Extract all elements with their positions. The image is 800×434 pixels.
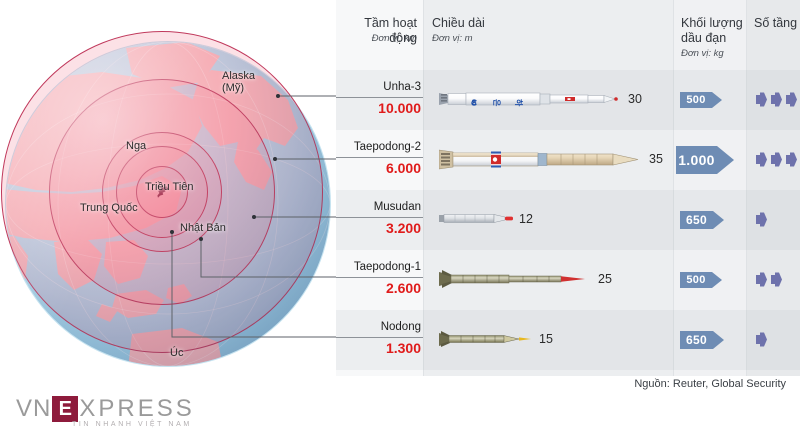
stage-icon [755,152,768,167]
missile-name: Taepodong-2 [354,141,421,153]
warhead-badge: 1.000 [676,146,734,174]
table-row[interactable]: Unha-3 10.000 [336,70,800,130]
missile-length: 12 [519,212,533,226]
warhead-badge: 500 [680,272,722,288]
warhead-nose [713,211,724,229]
missile-name: Nodong [381,321,421,333]
table-row[interactable]: Nodong 1.300 [336,310,800,370]
missile-name: Unha-3 [383,81,421,93]
warhead-value: 650 [680,211,713,229]
header-mass-line2: dầu đạn [681,31,726,46]
map-label-alaska-name: Alaska [222,70,255,82]
stage-icon [785,92,798,107]
stage-icon [755,332,768,347]
missile-icon-taepodong2 [439,147,645,172]
vnexpress-logo[interactable]: VN E XPRESS TIN NHANH VIỆT NAM [16,396,195,428]
stage-icon [770,92,783,107]
table-row[interactable]: Taepodong-2 6.000 [336,130,800,190]
warhead-value: 500 [680,92,712,108]
logo-xpress-text: XPRESS [79,396,194,422]
warhead-value: 1.000 [676,146,717,174]
header-range-unit: Đơn vị: km [336,33,417,45]
map-label-russia: Nga [126,140,146,152]
stage-icons [755,272,783,287]
warhead-nose [712,92,722,108]
warhead-value: 500 [680,272,712,288]
source-credit: Nguồn: Reuter, Global Security [634,378,786,390]
missile-length: 15 [539,332,553,346]
stage-icon [785,152,798,167]
missile-range: 10.000 [378,100,421,116]
svg-text:하: 하 [514,99,524,107]
map-label-north-korea: Triều Tiên [145,181,194,193]
missile-range: 1.300 [386,340,421,356]
stage-icon [770,152,783,167]
row-rule [336,217,423,218]
map-label-japan: Nhật Bản [180,222,226,234]
missile-table: Tầm hoạt động Đơn vị: km Chiều dài Đơn v… [336,0,800,376]
missile-length: 30 [628,92,642,106]
logo-tagline: TIN NHANH VIỆT NAM [72,421,192,428]
map-label-alaska-sub: (Mỹ) [222,82,255,94]
stage-icons [755,212,768,227]
header-length-unit: Đơn vị: m [432,33,473,45]
header-mass-line1: Khối lượng [681,16,743,31]
stage-icon [755,92,768,107]
stage-icons [755,92,798,107]
header-stages: Số tầng [754,16,797,31]
missile-range: 2.600 [386,280,421,296]
row-rule [336,97,423,98]
table-row[interactable]: Musudan 3.200 [336,190,800,250]
warhead-nose [712,272,722,288]
missile-name: Taepodong-1 [354,261,421,273]
missile-icon-unha3: ㅇ ω 은 하 [439,90,621,108]
logo-vn-text: VN [16,396,51,422]
stage-icons [755,152,798,167]
stage-icon [755,272,768,287]
missile-length: 25 [598,272,612,286]
infographic-root: Alaska (Mỹ) Nga Trung Quốc Triều Tiên Nh… [0,0,800,434]
svg-text:은: 은 [492,99,501,107]
warhead-nose [713,331,724,349]
missile-range: 3.200 [386,220,421,236]
missile-icon-musudan [439,213,515,224]
missile-range: 6.000 [386,160,421,176]
map-label-alaska: Alaska (Mỹ) [222,70,255,94]
table-row[interactable]: Taepodong-1 2.600 [336,250,800,310]
row-rule [336,337,423,338]
missile-icon-taepodong1 [439,270,595,288]
row-rule [336,277,423,278]
header-length: Chiều dài [432,16,485,31]
warhead-value: 650 [680,331,713,349]
globe [6,42,330,366]
stage-icon [755,212,768,227]
warhead-badge: 650 [680,211,724,229]
svg-text:ω: ω [470,99,479,106]
map-label-australia: Úc [170,347,183,359]
warhead-badge: 500 [680,92,722,108]
warhead-nose [717,146,734,174]
map-label-china: Trung Quốc [80,202,138,214]
stage-icon [770,272,783,287]
missile-name: Musudan [374,201,421,213]
missile-length: 35 [649,152,663,166]
globe-panel: Alaska (Mỹ) Nga Trung Quốc Triều Tiên Nh… [0,36,336,376]
header-mass-unit: Đơn vị: kg [681,48,724,60]
row-rule [336,157,423,158]
logo-e-box: E [52,396,78,422]
missile-icon-nodong [439,331,535,347]
stage-icons [755,332,768,347]
warhead-badge: 650 [680,331,724,349]
